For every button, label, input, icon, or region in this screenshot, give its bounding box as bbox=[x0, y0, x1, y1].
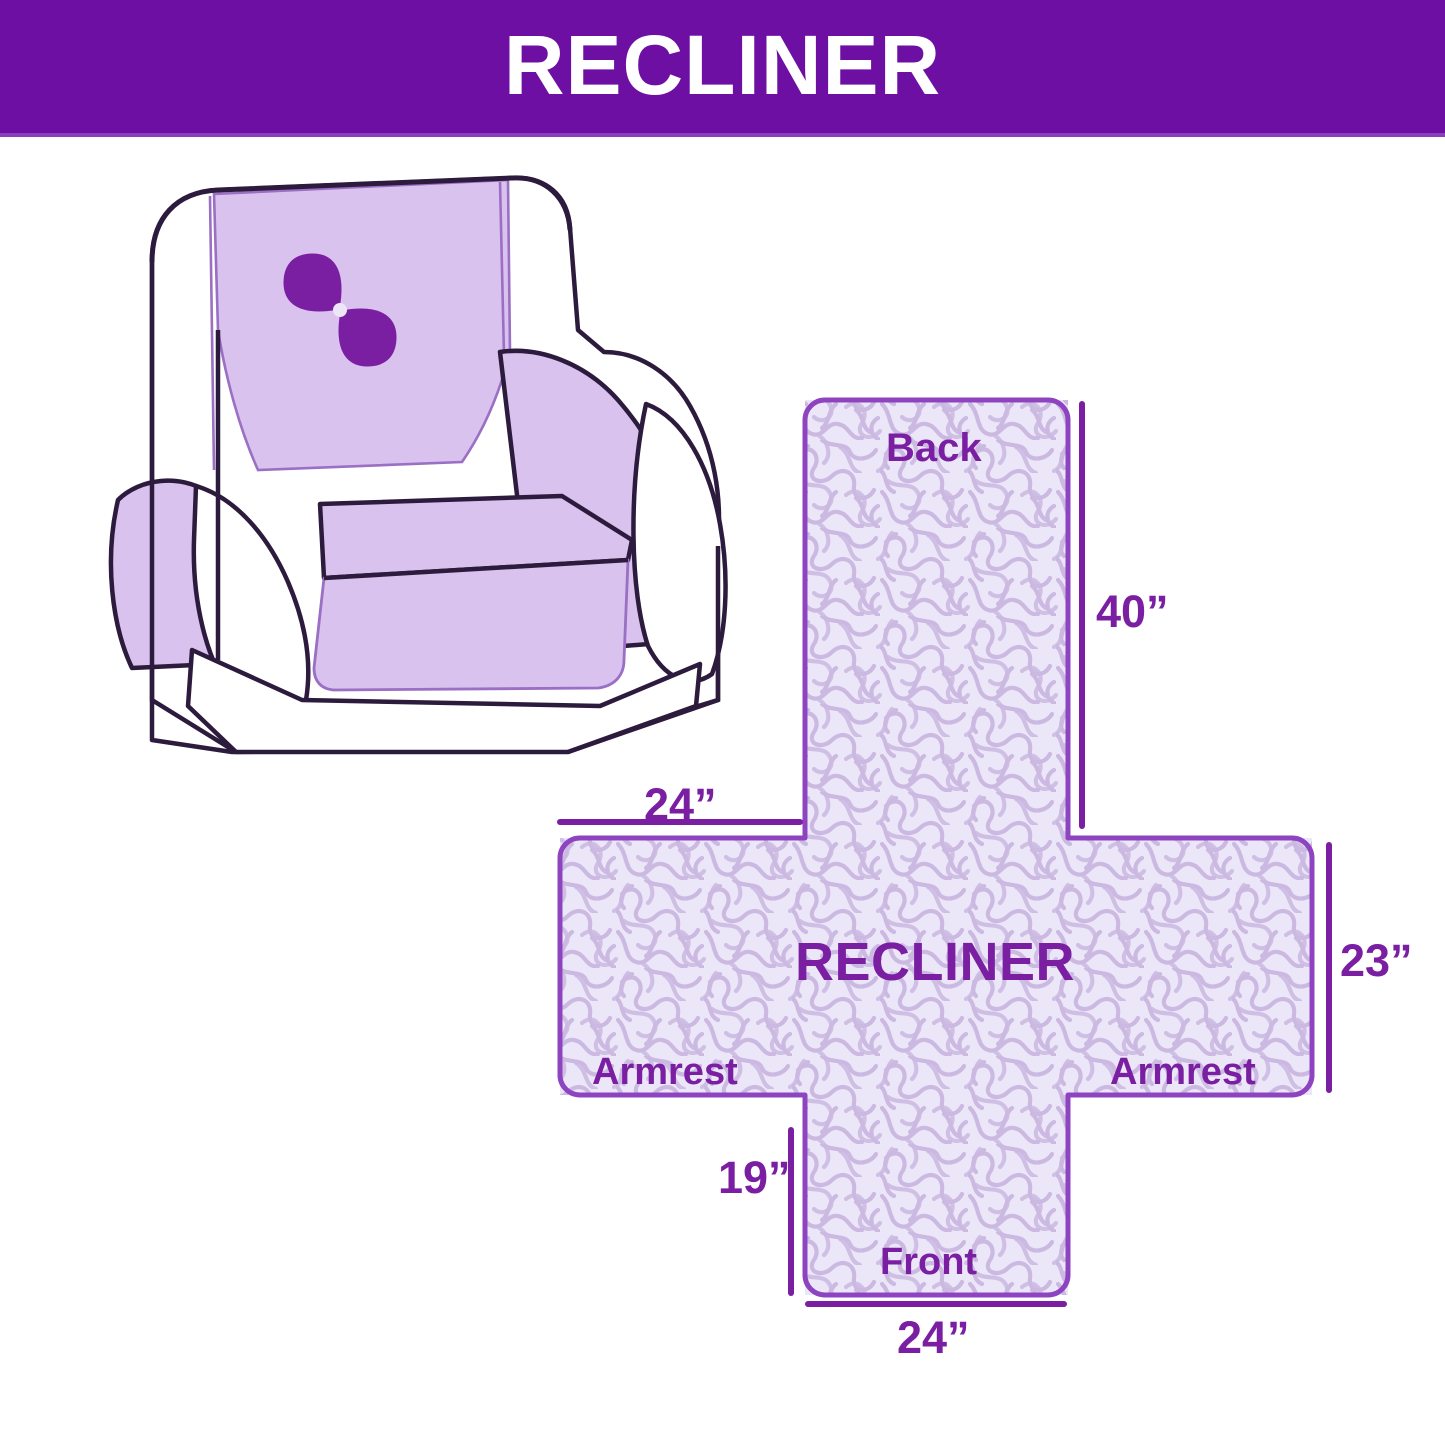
diagram-artwork bbox=[0, 0, 1445, 1445]
chair-illustration-group bbox=[111, 178, 726, 752]
dimension-label-center-height: 23” bbox=[1340, 938, 1413, 983]
panel-label-back: Back bbox=[886, 428, 982, 468]
dimension-label-front-width: 24” bbox=[897, 1315, 970, 1360]
panel-label-armrest-left: Armrest bbox=[592, 1053, 738, 1091]
dimension-label-back-length: 40” bbox=[1096, 589, 1169, 634]
dimension-label-back-width: 24” bbox=[644, 782, 717, 827]
panel-label-armrest-right: Armrest bbox=[1110, 1053, 1256, 1091]
panel-label-recliner: RECLINER bbox=[795, 935, 1075, 989]
dimension-label-front-length: 19” bbox=[718, 1155, 791, 1200]
diagram-stage: Back RECLINER Armrest Armrest Front 40” … bbox=[0, 0, 1445, 1445]
panel-label-front: Front bbox=[880, 1243, 977, 1281]
